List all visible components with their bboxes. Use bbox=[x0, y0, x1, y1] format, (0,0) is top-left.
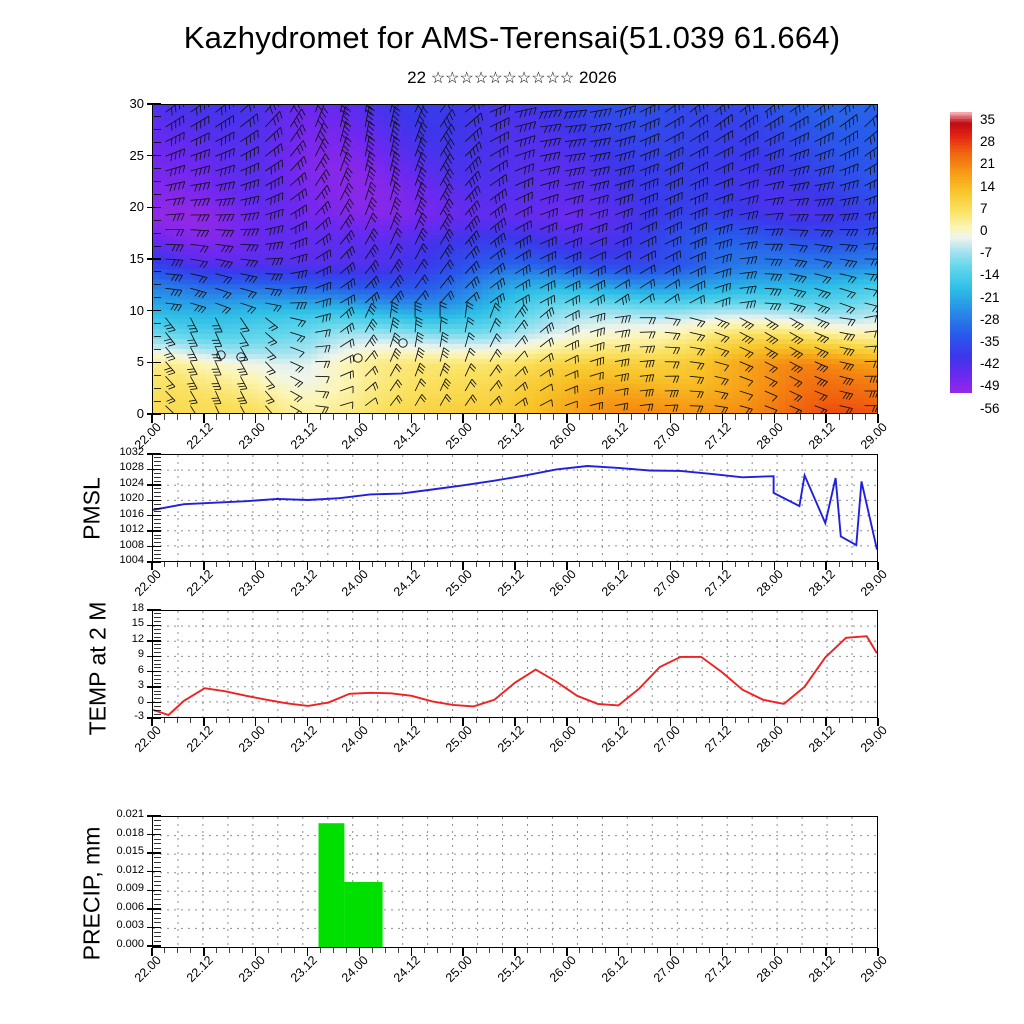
x-tick-label: 28.12 bbox=[789, 953, 838, 1002]
x-tick-label: 22.00 bbox=[114, 953, 163, 1002]
x-tick-label: 23.12 bbox=[270, 723, 319, 772]
colorbar-tick-label: -28 bbox=[980, 312, 1000, 327]
colorbar-tick-label: -42 bbox=[980, 356, 1000, 371]
temp-plot-area bbox=[153, 611, 877, 717]
upper-air-y-axis: 051015202530 bbox=[112, 104, 166, 414]
subtitle-month-glyphs: ☆☆☆☆☆☆☆☆☆☆ bbox=[431, 70, 574, 87]
colorbar-tick-label: -56 bbox=[980, 401, 1000, 416]
y-tick-label: 15 bbox=[108, 618, 144, 629]
y-tick-label: 15 bbox=[112, 252, 144, 265]
y-tick-label: 0 bbox=[108, 696, 144, 707]
x-tick-label: 25.12 bbox=[477, 953, 526, 1002]
colorbar[interactable] bbox=[950, 112, 972, 393]
y-tick-label: 1032 bbox=[100, 447, 144, 458]
y-tick-label: 1024 bbox=[100, 478, 144, 489]
x-tick-label: 27.00 bbox=[633, 723, 682, 772]
y-tick-label: 30 bbox=[112, 97, 144, 110]
y-tick-label: 18 bbox=[108, 603, 144, 614]
page-title: Kazhydromet for AMS-Terensai(51.039 61.6… bbox=[0, 20, 1024, 56]
y-tick-label: 1020 bbox=[100, 493, 144, 504]
colorbar-tick-label: -7 bbox=[980, 245, 992, 260]
y-tick-label: 0.021 bbox=[96, 809, 144, 820]
y-tick-label: 0.003 bbox=[96, 920, 144, 931]
x-tick-label: 22.12 bbox=[166, 723, 215, 772]
colorbar-tick-label: 35 bbox=[980, 112, 995, 127]
y-tick-label: 20 bbox=[112, 200, 144, 213]
x-tick-label: 22.00 bbox=[114, 723, 163, 772]
y-tick-label: 0.015 bbox=[96, 846, 144, 857]
precip-plot-area bbox=[153, 817, 877, 947]
x-tick-label: 23.00 bbox=[218, 723, 267, 772]
precip-y-axis: 0.0000.0030.0060.0090.0120.0150.0180.021 bbox=[96, 816, 166, 946]
x-tick-label: 24.12 bbox=[374, 953, 423, 1002]
y-tick-label: 1016 bbox=[100, 509, 144, 520]
x-tick-label: 28.00 bbox=[737, 723, 786, 772]
y-tick-label: 6 bbox=[108, 665, 144, 676]
pmsl-plot-area bbox=[153, 455, 877, 561]
upper-air-field bbox=[153, 105, 877, 413]
y-tick-label: 0.018 bbox=[96, 828, 144, 839]
subtitle-date: 22 ☆☆☆☆☆☆☆☆☆☆ 2026 bbox=[0, 68, 1024, 88]
x-tick-label: 28.12 bbox=[789, 723, 838, 772]
y-tick-label: 5 bbox=[112, 355, 144, 368]
x-tick-label: 26.12 bbox=[581, 953, 630, 1002]
x-tick-label: 24.00 bbox=[322, 953, 371, 1002]
temp-panel[interactable] bbox=[152, 610, 878, 718]
y-tick-label: 0.012 bbox=[96, 865, 144, 876]
colorbar-tick-label: 28 bbox=[980, 134, 995, 149]
x-tick-label: 24.12 bbox=[374, 723, 423, 772]
y-tick-label: 9 bbox=[108, 649, 144, 660]
y-tick-label: 12 bbox=[108, 634, 144, 645]
colorbar-tick-label: 0 bbox=[980, 223, 988, 238]
colorbar-tick-label: 14 bbox=[980, 179, 995, 194]
x-tick-label: 25.00 bbox=[426, 953, 475, 1002]
pmsl-panel[interactable] bbox=[152, 454, 878, 562]
colorbar-tick-label: 7 bbox=[980, 201, 988, 216]
x-tick-label: 23.12 bbox=[270, 953, 319, 1002]
y-tick-label: 1008 bbox=[100, 540, 144, 551]
pmsl-y-axis: 10041008101210161020102410281032 bbox=[100, 454, 166, 562]
x-tick-label: 29.00 bbox=[840, 953, 889, 1002]
x-tick-label: 27.00 bbox=[633, 953, 682, 1002]
y-tick-label: 10 bbox=[112, 304, 144, 317]
precip-bar bbox=[319, 823, 345, 947]
precip-bar bbox=[344, 882, 382, 947]
x-tick-label: 28.00 bbox=[737, 953, 786, 1002]
y-tick-label: 3 bbox=[108, 680, 144, 691]
x-tick-label: 26.00 bbox=[529, 723, 578, 772]
x-tick-label: 24.00 bbox=[322, 723, 371, 772]
colorbar-tick-label: -21 bbox=[980, 290, 1000, 305]
y-tick-label: 0.006 bbox=[96, 902, 144, 913]
x-tick-label: 22.12 bbox=[166, 953, 215, 1002]
x-tick-label: 27.12 bbox=[685, 723, 734, 772]
temp-x-axis: 22.0022.1223.0023.1224.0024.1225.0025.12… bbox=[0, 718, 1024, 778]
y-tick-label: 1028 bbox=[100, 462, 144, 473]
x-tick-label: 26.00 bbox=[529, 953, 578, 1002]
precip-panel[interactable] bbox=[152, 816, 878, 948]
colorbar-tick-label: -14 bbox=[980, 267, 1000, 282]
colorbar-gradient bbox=[950, 112, 972, 393]
x-tick-label: 27.12 bbox=[685, 953, 734, 1002]
x-tick-label: 26.12 bbox=[581, 723, 630, 772]
upper-air-panel[interactable] bbox=[152, 104, 878, 414]
x-tick-label: 25.12 bbox=[477, 723, 526, 772]
colorbar-tick-label: 21 bbox=[980, 156, 995, 171]
colorbar-tick-label: -49 bbox=[980, 378, 1000, 393]
temp-y-axis: -30369121518 bbox=[108, 610, 166, 718]
x-tick-label: 23.00 bbox=[218, 953, 267, 1002]
x-tick-label: 29.00 bbox=[840, 723, 889, 772]
y-tick-label: 1012 bbox=[100, 524, 144, 535]
y-tick-label: 25 bbox=[112, 149, 144, 162]
precip-x-axis: 22.0022.1223.0023.1224.0024.1225.0025.12… bbox=[0, 948, 1024, 1008]
colorbar-tick-label: -35 bbox=[980, 334, 1000, 349]
x-tick-label: 25.00 bbox=[426, 723, 475, 772]
subtitle-day: 22 bbox=[407, 68, 426, 87]
subtitle-year: 2026 bbox=[579, 68, 617, 87]
y-tick-label: 0.009 bbox=[96, 883, 144, 894]
